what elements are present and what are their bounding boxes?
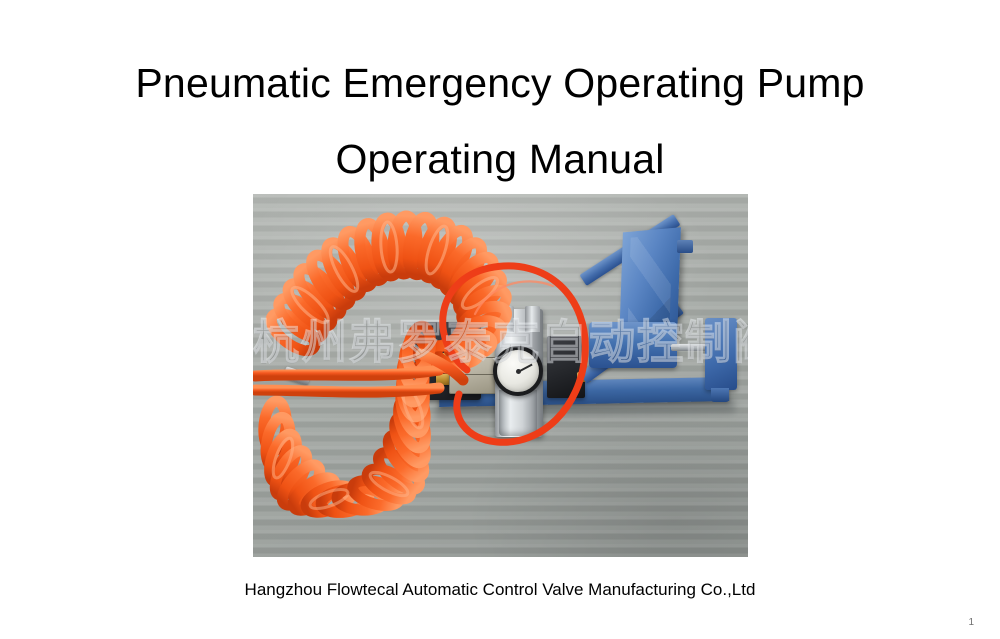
footer-company-name: Hangzhou Flowtecal Automatic Control Val… xyxy=(0,578,1000,602)
coiled-air-hose xyxy=(253,194,748,557)
hose-coil-lower xyxy=(262,324,434,517)
product-photo-canvas: 杭州弗罗泰克自动控制阀有限公司 xyxy=(253,194,748,557)
title-line-2: Operating Manual xyxy=(0,130,1000,188)
title-line-1: Pneumatic Emergency Operating Pump xyxy=(0,54,1000,112)
hose-coil-upper xyxy=(265,215,511,371)
page-number: 1 xyxy=(968,617,974,629)
hose-straight-runs xyxy=(255,354,463,392)
page-title: Pneumatic Emergency Operating Pump Opera… xyxy=(0,54,1000,188)
product-photo: 杭州弗罗泰克自动控制阀有限公司 xyxy=(253,194,748,557)
